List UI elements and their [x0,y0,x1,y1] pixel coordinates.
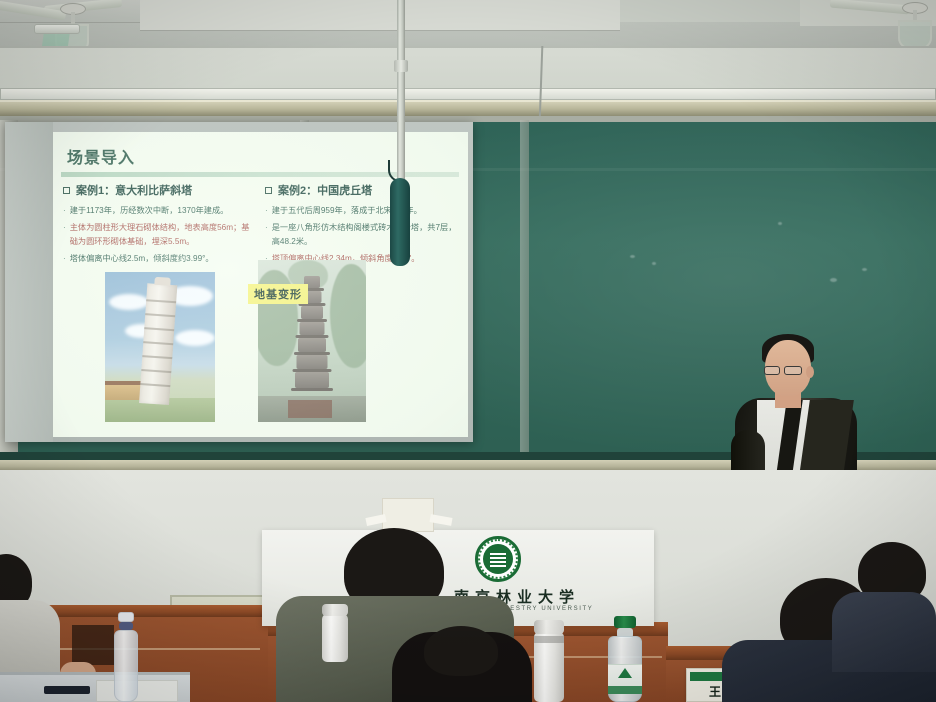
bullet-dot-icon: · [63,221,66,249]
table-tent-card [382,498,434,532]
list-item: ·主体为圆柱形大理石砌体结构，地表高度56m；基础为圆环形砌体基础，埋深5.5m… [63,221,255,249]
cloud [109,294,149,310]
eyeglasses-icon [784,366,802,375]
bottle-cap [614,616,636,628]
pisa-tower-photo [105,272,215,422]
hanging-pointer [390,178,410,266]
ceiling-seam [0,22,140,23]
desk-edge [0,672,190,675]
bottle-cap [118,612,134,622]
list-item: ·是一座八角形仿木结构阁楼式砖木混合塔，共7层，高48.2米。 [265,221,457,249]
light-fixture [34,24,80,34]
bullet-dot-icon: · [265,204,268,218]
case2-bullet-list: ·建于五代后周959年，落成于北宋961年。 ·是一座八角形仿木结构阁楼式砖木混… [265,204,457,266]
podium-opening [72,625,114,665]
ceiling-seam [140,30,620,31]
chalk-mark [778,222,782,225]
slide-title: 场景导入 [67,144,135,168]
chalk-mark [630,255,635,258]
bullet-dot-icon: · [265,221,268,249]
cloud [175,330,215,346]
label-band [608,686,642,694]
ceiling-panel [140,0,620,30]
thermos-band [534,636,564,643]
case2-heading-row: 案例2：中国虎丘塔 [265,182,457,198]
fluorescent-light-strip [0,88,936,100]
chalk-mark [862,268,867,271]
slide-column-case1: 案例1：意大利比萨斜塔 ·建于1173年，历经数次中断，1370年建成。 ·主体… [63,182,255,269]
bullet-text: 是一座八角形仿木结构阁楼式砖木混合塔，共7层，高48.2米。 [272,221,457,249]
grey-tumbler[interactable] [322,614,348,662]
square-bullet-icon [63,187,70,194]
ceiling-panel [620,0,800,22]
emblem-center [483,544,513,574]
bottle-neck-label [119,622,133,630]
entrance-gate [288,400,332,418]
screen-border-left [5,122,53,442]
chalkboard-top-rail [0,100,936,116]
tumbler-lid [322,604,348,616]
bottle-body [114,630,138,702]
chalk-mark [830,278,837,282]
rail-highlight [0,100,936,102]
list-item: ·建于五代后周959年，落成于北宋961年。 [265,204,457,218]
chalkboard-panel-seam [520,120,529,470]
bullet-text: 主体为圆柱形大理石砌体结构，地表高度56m；基础为圆环形砌体基础，埋深5.5m。 [70,221,255,249]
case1-heading: 案例1：意大利比萨斜塔 [76,182,192,198]
tree [330,264,366,368]
eyeglasses-icon [764,366,780,375]
pen-on-desk[interactable] [44,686,90,694]
tower-top [154,277,171,286]
bullet-dot-icon: · [63,252,66,266]
pole-joint [394,60,408,72]
highlight-tag: 地基变形 [248,284,308,304]
slide-column-case2: 案例2：中国虎丘塔 ·建于五代后周959年，落成于北宋961年。 ·是一座八角形… [265,182,457,269]
bullet-text: 塔体偏离中心线2.5m，倾斜度约3.99°。 [70,252,214,266]
case1-bullet-list: ·建于1173年，历经数次中断，1370年建成。 ·主体为圆柱形大理石砌体结构，… [63,204,255,266]
case2-heading: 案例2：中国虎丘塔 [278,182,372,198]
thermos-lid [534,620,564,634]
classroom-scene: 场景导入 案例1：意大利比萨斜塔 ·建于1173年，历经数次中断，1370年建成… [0,0,936,702]
university-emblem-icon [475,536,521,582]
case1-heading-row: 案例1：意大利比萨斜塔 [63,182,255,198]
audience-shoulders [832,592,936,672]
bullet-text: 建于1173年，历经数次中断，1370年建成。 [70,204,229,218]
bullet-dot-icon: · [63,204,66,218]
list-item: ·建于1173年，历经数次中断，1370年建成。 [63,204,255,218]
square-bullet-icon [265,187,272,194]
lecturer-ear [806,366,814,378]
wall-seam [0,46,936,48]
chalk-mark [652,262,656,265]
audience-head [424,626,498,676]
list-item: ·塔体偏离中心线2.5m，倾斜度约3.99°。 [63,252,255,266]
